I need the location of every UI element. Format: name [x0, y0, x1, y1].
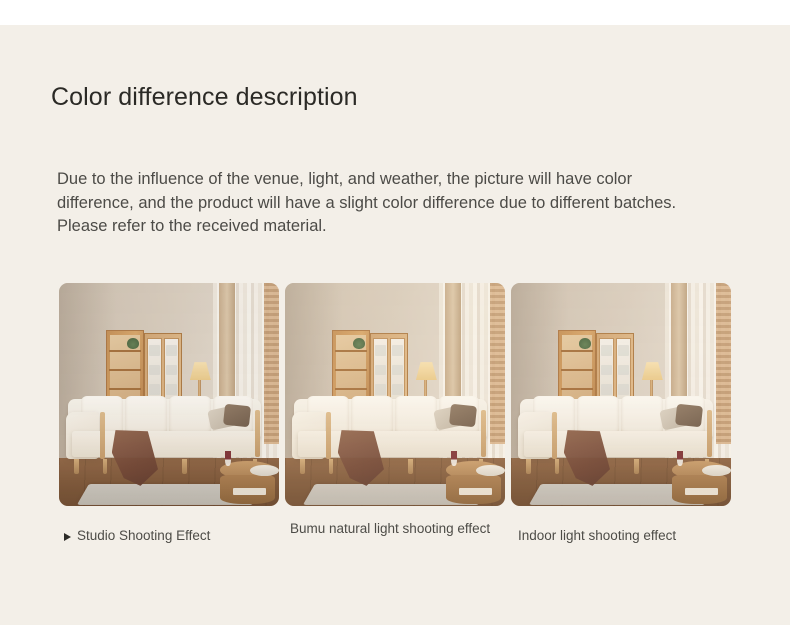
potted-plant: [353, 338, 365, 349]
image-gallery: [59, 283, 731, 507]
caption-1-label: Studio Shooting Effect: [77, 528, 210, 544]
side-tray: [250, 465, 279, 476]
potted-plant: [579, 338, 591, 349]
gallery-image-1[interactable]: [59, 283, 279, 506]
page-title: Color difference description: [51, 82, 471, 113]
potted-plant: [127, 338, 139, 349]
caption-1[interactable]: Studio Shooting Effect: [59, 521, 284, 551]
play-triangle-icon: [64, 533, 71, 541]
living-room-scene: [59, 283, 279, 506]
accent-pillow: [675, 403, 703, 427]
side-tray: [476, 465, 505, 476]
caption-row: Studio Shooting Effect Bumu natural ligh…: [59, 521, 731, 567]
side-tray: [702, 465, 731, 476]
window-blind: [490, 283, 505, 444]
wine-glass: [677, 451, 683, 465]
wine-glass: [225, 451, 231, 465]
caption-3-label: Indoor light shooting effect: [518, 528, 676, 544]
living-room-scene: [511, 283, 731, 506]
wine-glass: [451, 451, 457, 465]
living-room-scene: [285, 283, 505, 506]
window-blind: [716, 283, 731, 444]
caption-3[interactable]: Indoor light shooting effect: [516, 521, 738, 551]
accent-pillow: [449, 403, 477, 427]
accent-pillow: [223, 403, 251, 427]
gallery-image-3[interactable]: [511, 283, 731, 506]
gallery-image-2[interactable]: [285, 283, 505, 506]
description-paragraph: Due to the influence of the venue, light…: [57, 168, 697, 239]
window-blind: [264, 283, 279, 444]
caption-2[interactable]: Bumu natural light shooting effect: [290, 521, 510, 567]
color-difference-section: Color difference description Due to the …: [0, 25, 790, 625]
caption-2-label: Bumu natural light shooting effect: [290, 521, 490, 537]
